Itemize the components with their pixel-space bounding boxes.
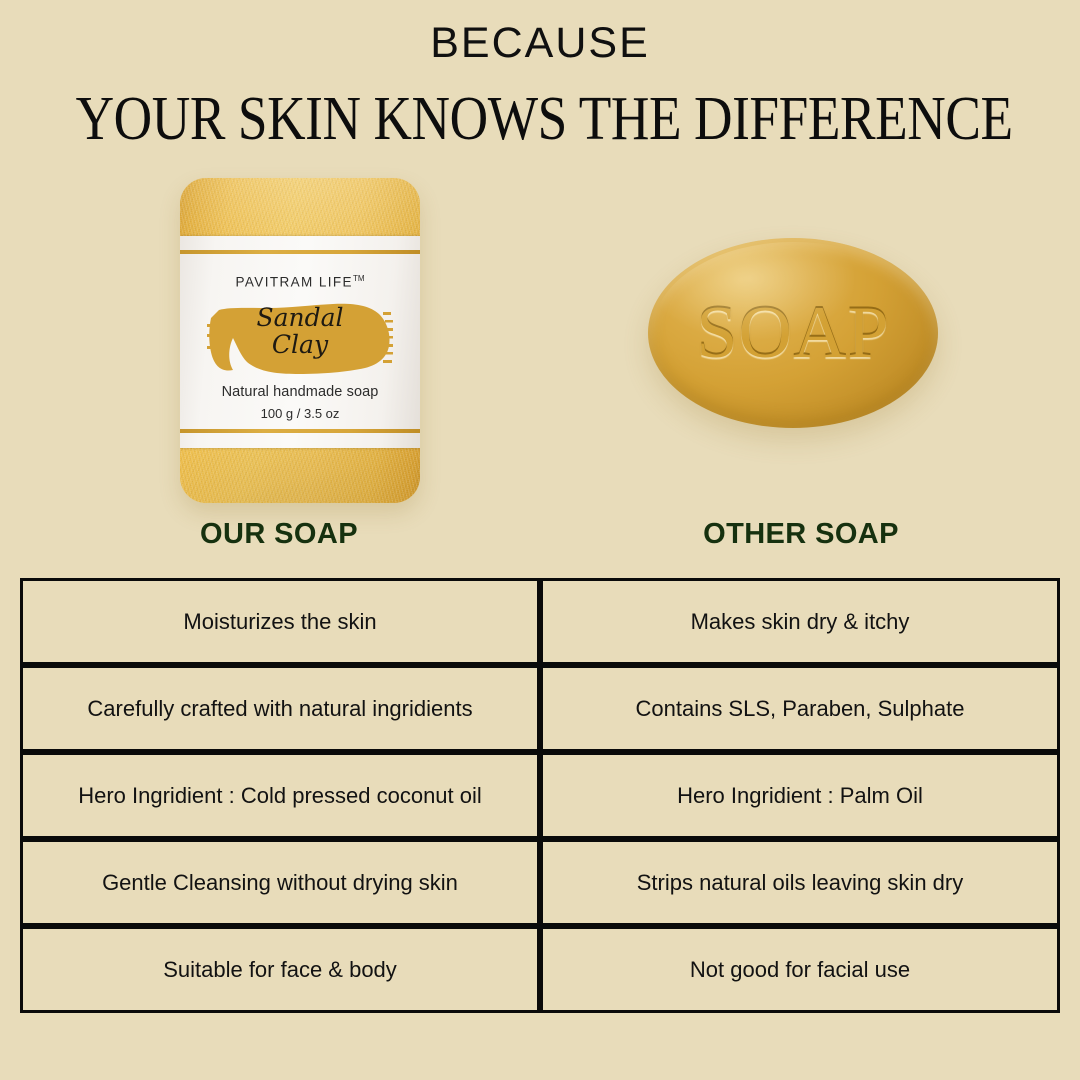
cell-other-soap: Contains SLS, Paraben, Sulphate: [540, 665, 1060, 752]
label-rule-bottom: [180, 429, 420, 433]
variant-line-1: Sandal: [256, 303, 343, 332]
table-row: Moisturizes the skin Makes skin dry & it…: [20, 578, 1060, 665]
trademark-symbol: TM: [353, 274, 365, 283]
column-header-other-soap: OTHER SOAP: [542, 518, 1060, 551]
table-row: Carefully crafted with natural ingridien…: [20, 665, 1060, 752]
oval-soap-emboss-label: SOAP: [648, 238, 938, 428]
cell-our-soap: Gentle Cleansing without drying skin: [20, 839, 540, 926]
column-header-our-soap: OUR SOAP: [20, 518, 538, 551]
our-soap-product-image: PAVITRAM LIFETM: [180, 178, 420, 503]
cell-our-soap: Suitable for face & body: [20, 926, 540, 1013]
table-row: Gentle Cleansing without drying skin Str…: [20, 839, 1060, 926]
headline-line-2: YOUR SKIN KNOWS THE DIFFERENCE: [76, 88, 1005, 150]
variant-line-2: Clay: [180, 331, 420, 358]
table-row: Suitable for face & body Not good for fa…: [20, 926, 1060, 1013]
comparison-column-headers: OUR SOAP OTHER SOAP: [20, 518, 1060, 551]
cell-other-soap: Makes skin dry & itchy: [540, 578, 1060, 665]
comparison-table-body: Moisturizes the skin Makes skin dry & it…: [20, 578, 1060, 1013]
soap-label-sleeve: PAVITRAM LIFETM: [180, 236, 420, 448]
cell-our-soap: Moisturizes the skin: [20, 578, 540, 665]
product-comparison-images: PAVITRAM LIFETM: [0, 170, 1080, 515]
brand-name: PAVITRAM LIFETM: [180, 274, 420, 290]
cell-other-soap: Not good for facial use: [540, 926, 1060, 1013]
heading-block: BECAUSE YOUR SKIN KNOWS THE DIFFERENCE: [0, 0, 1080, 150]
other-soap-product-image: SOAP: [648, 238, 938, 428]
cell-our-soap: Hero Ingridient : Cold pressed coconut o…: [20, 752, 540, 839]
cell-our-soap: Carefully crafted with natural ingridien…: [20, 665, 540, 752]
cell-other-soap: Strips natural oils leaving skin dry: [540, 839, 1060, 926]
soap-description: Natural handmade soap: [180, 384, 420, 400]
table-row: Hero Ingridient : Cold pressed coconut o…: [20, 752, 1060, 839]
cell-other-soap: Hero Ingridient : Palm Oil: [540, 752, 1060, 839]
comparison-table: Moisturizes the skin Makes skin dry & it…: [20, 578, 1060, 1013]
soap-net-weight: 100 g / 3.5 oz: [180, 406, 420, 421]
soap-variant-name: Sandal Clay: [180, 304, 420, 358]
oval-soap-bar: SOAP: [648, 238, 938, 428]
label-rule-top: [180, 250, 420, 254]
headline-line-1: BECAUSE: [0, 22, 1080, 65]
brand-name-text: PAVITRAM LIFE: [235, 275, 352, 290]
